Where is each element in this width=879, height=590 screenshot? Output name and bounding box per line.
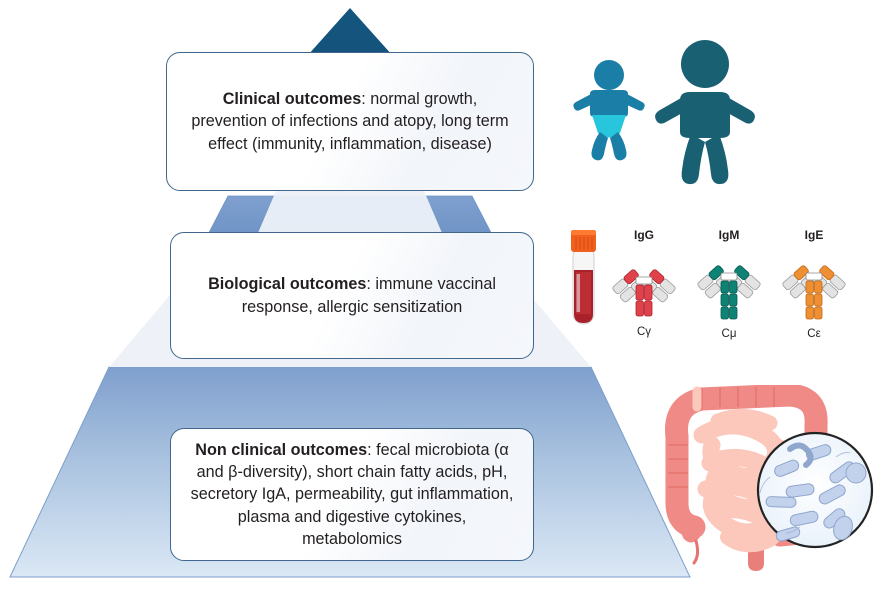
svg-text:IgE: IgE <box>805 228 824 242</box>
blood-collection-tube-icon <box>571 230 596 324</box>
outcome-box-biological: Biological outcomes: immune vaccinal res… <box>170 232 534 359</box>
outcome-heading-clinical: Clinical outcomes <box>223 90 362 108</box>
outcome-separator-clinical: : <box>361 90 370 108</box>
outcome-text-biological: Biological outcomes: immune vaccinal res… <box>171 273 533 318</box>
outcome-box-non-clinical: Non clinical outcomes: fecal microbiota … <box>170 428 534 561</box>
microbiota-magnifier <box>758 433 872 547</box>
svg-text:Cγ: Cγ <box>637 326 651 338</box>
immunology-illustration: IgG Cγ Ig <box>566 222 866 357</box>
svg-text:Cμ: Cμ <box>722 328 737 340</box>
svg-text:Cε: Cε <box>807 328 820 340</box>
antibody-ige-icon: IgE Cε <box>782 228 846 340</box>
antibody-igg-icon: IgG Cγ <box>612 228 676 338</box>
outcome-text-clinical: Clinical outcomes: normal growth, preven… <box>167 88 533 155</box>
outcome-heading-non-clinical: Non clinical outcomes <box>195 441 367 459</box>
outcome-separator-non-clinical: : <box>367 441 376 459</box>
outcome-text-non-clinical: Non clinical outcomes: fecal microbiota … <box>171 439 533 551</box>
svg-text:IgM: IgM <box>719 228 740 242</box>
gut-illustration <box>640 385 879 575</box>
outcome-box-clinical: Clinical outcomes: normal growth, preven… <box>166 52 534 191</box>
svg-text:IgG: IgG <box>634 228 654 242</box>
adult-icon <box>655 40 755 184</box>
antibody-igm-icon: IgM Cμ <box>697 228 761 340</box>
outcome-heading-biological: Biological outcomes <box>208 275 366 293</box>
baby-icon <box>573 60 644 160</box>
figure-canvas: Clinical outcomes: normal growth, preven… <box>0 0 879 590</box>
people-illustration <box>560 28 765 208</box>
